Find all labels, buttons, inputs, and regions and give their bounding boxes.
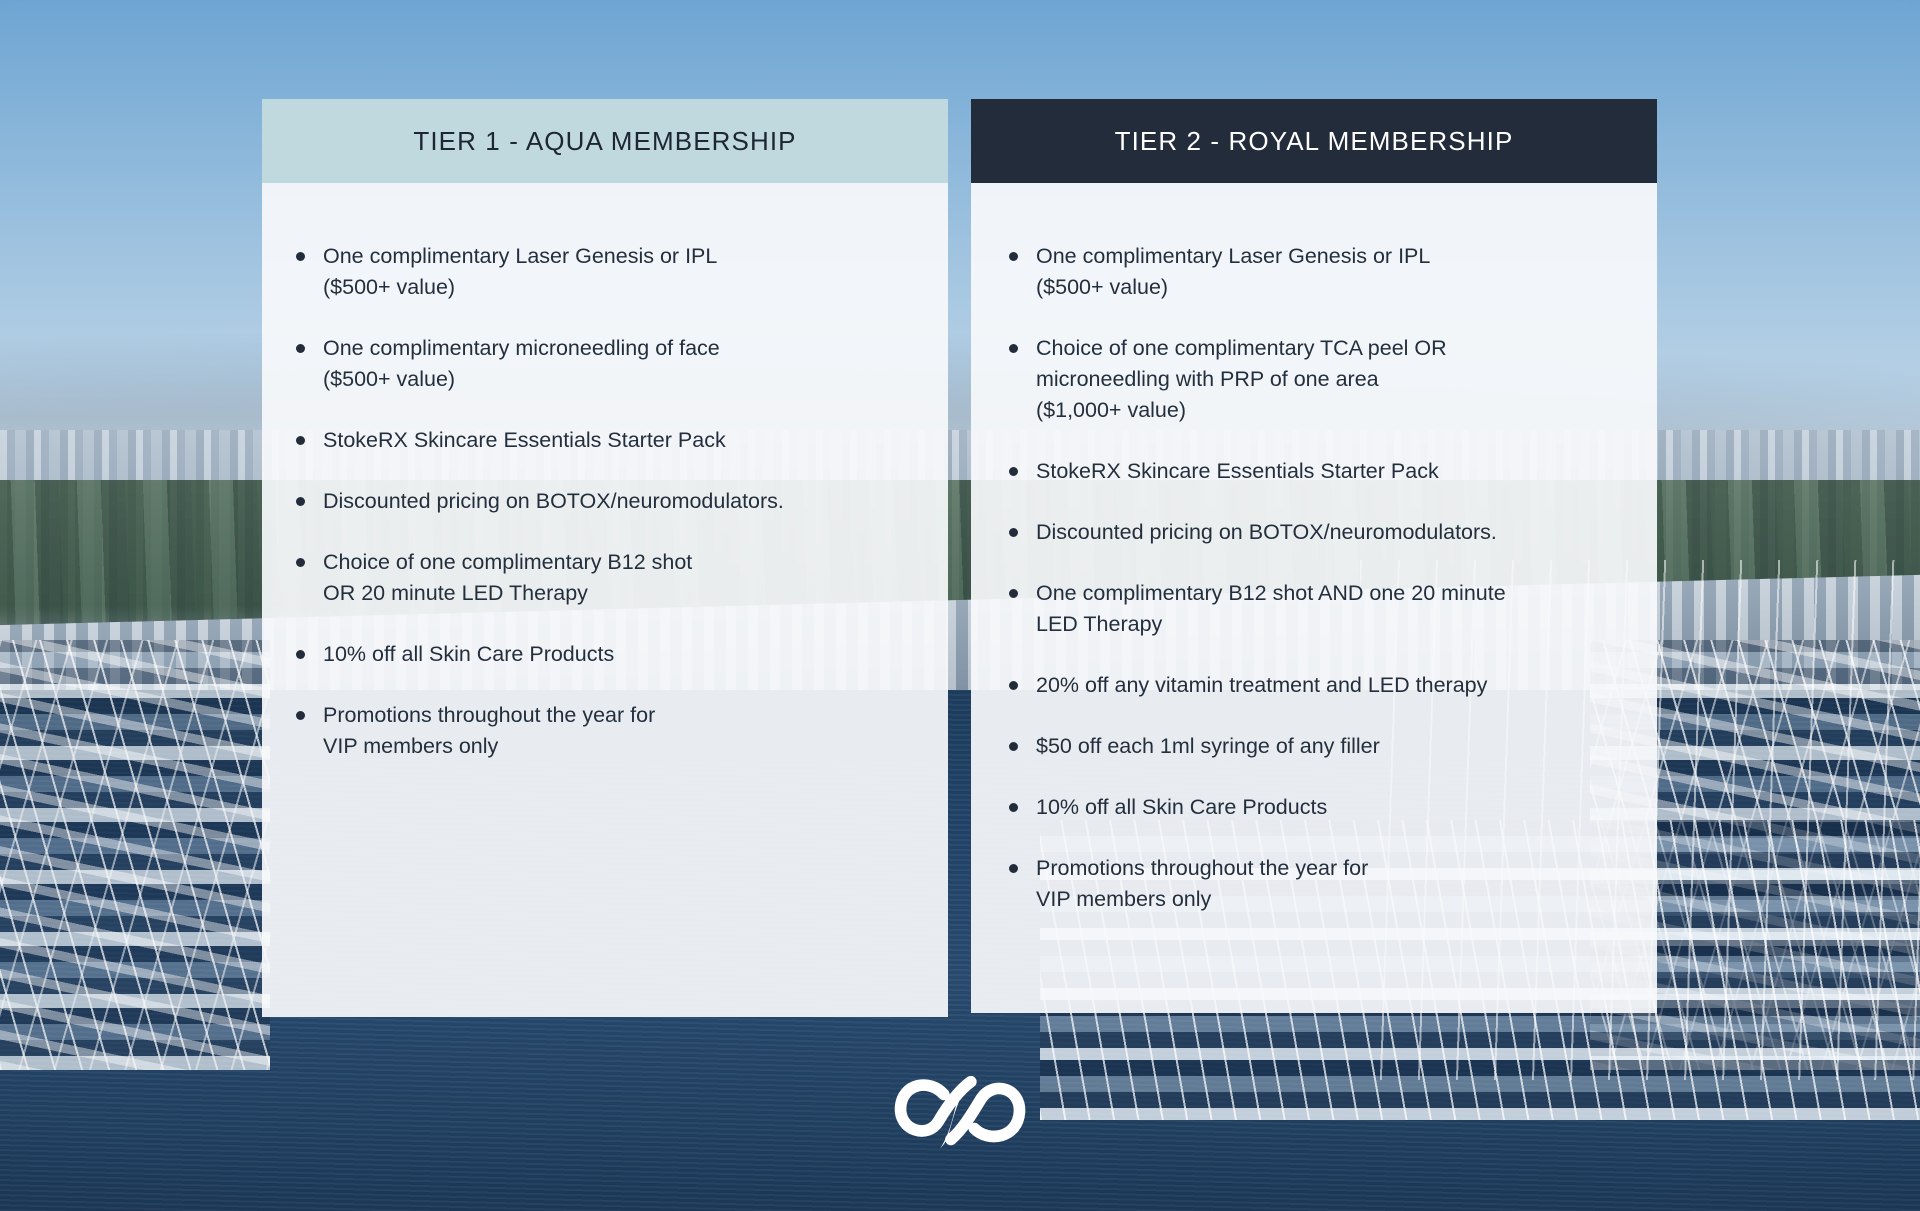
benefit-text: Choice of one complimentary B12 shot OR … — [323, 547, 692, 609]
benefit-item: 10% off all Skin Care Products — [296, 639, 914, 670]
benefit-text: 10% off all Skin Care Products — [1036, 792, 1327, 823]
tier-2-header: TIER 2 - ROYAL MEMBERSHIP — [971, 99, 1657, 183]
bullet-icon — [1009, 589, 1018, 598]
benefit-text: Promotions throughout the year for VIP m… — [323, 700, 655, 762]
benefit-text: One complimentary Laser Genesis or IPL (… — [323, 241, 717, 303]
benefit-item: One complimentary Laser Genesis or IPL (… — [1009, 241, 1629, 303]
benefit-text: StokeRX Skincare Essentials Starter Pack — [323, 425, 726, 456]
bullet-icon — [1009, 467, 1018, 476]
bullet-icon — [296, 344, 305, 353]
benefit-item: Choice of one complimentary B12 shot OR … — [296, 547, 914, 609]
benefit-item: Choice of one complimentary TCA peel OR … — [1009, 333, 1629, 426]
benefit-item: One complimentary Laser Genesis or IPL (… — [296, 241, 914, 303]
bullet-icon — [296, 558, 305, 567]
benefit-text: Discounted pricing on BOTOX/neuromodulat… — [323, 486, 784, 517]
benefit-text: One complimentary microneedling of face … — [323, 333, 720, 395]
bullet-icon — [296, 650, 305, 659]
tier-2-title: TIER 2 - ROYAL MEMBERSHIP — [1115, 126, 1514, 157]
benefit-text: One complimentary B12 shot AND one 20 mi… — [1036, 578, 1506, 640]
bullet-icon — [1009, 803, 1018, 812]
benefit-item: 20% off any vitamin treatment and LED th… — [1009, 670, 1629, 701]
bullet-icon — [1009, 252, 1018, 261]
bullet-icon — [296, 711, 305, 720]
tier-2-card: TIER 2 - ROYAL MEMBERSHIP One compliment… — [971, 99, 1657, 1013]
benefit-item: $50 off each 1ml syringe of any filler — [1009, 731, 1629, 762]
benefit-text: 20% off any vitamin treatment and LED th… — [1036, 670, 1487, 701]
benefit-item: Discounted pricing on BOTOX/neuromodulat… — [1009, 517, 1629, 548]
benefit-text: Discounted pricing on BOTOX/neuromodulat… — [1036, 517, 1497, 548]
benefit-item: Promotions throughout the year for VIP m… — [1009, 853, 1629, 915]
benefit-item: StokeRX Skincare Essentials Starter Pack — [1009, 456, 1629, 487]
slide-canvas: TIER 1 - AQUA MEMBERSHIP One complimenta… — [0, 0, 1920, 1211]
bullet-icon — [296, 497, 305, 506]
tier-1-header: TIER 1 - AQUA MEMBERSHIP — [262, 99, 948, 183]
benefit-text: StokeRX Skincare Essentials Starter Pack — [1036, 456, 1439, 487]
tier-2-benefit-list: One complimentary Laser Genesis or IPL (… — [971, 183, 1657, 915]
benefit-item: Promotions throughout the year for VIP m… — [296, 700, 914, 762]
benefit-item: StokeRX Skincare Essentials Starter Pack — [296, 425, 914, 456]
bullet-icon — [1009, 681, 1018, 690]
bullet-icon — [1009, 742, 1018, 751]
bullet-icon — [1009, 528, 1018, 537]
benefit-text: Promotions throughout the year for VIP m… — [1036, 853, 1368, 915]
benefit-text: 10% off all Skin Care Products — [323, 639, 614, 670]
benefit-item: 10% off all Skin Care Products — [1009, 792, 1629, 823]
benefit-text: Choice of one complimentary TCA peel OR … — [1036, 333, 1447, 426]
infinity-monogram-logo — [888, 1062, 1032, 1152]
benefit-item: One complimentary B12 shot AND one 20 mi… — [1009, 578, 1629, 640]
tier-1-card: TIER 1 - AQUA MEMBERSHIP One complimenta… — [262, 99, 948, 1017]
bullet-icon — [1009, 344, 1018, 353]
membership-tier-cards: TIER 1 - AQUA MEMBERSHIP One complimenta… — [0, 0, 1920, 1211]
benefit-text: One complimentary Laser Genesis or IPL (… — [1036, 241, 1430, 303]
tier-1-benefit-list: One complimentary Laser Genesis or IPL (… — [262, 183, 948, 762]
tier-1-title: TIER 1 - AQUA MEMBERSHIP — [413, 126, 796, 157]
benefit-item: Discounted pricing on BOTOX/neuromodulat… — [296, 486, 914, 517]
bullet-icon — [1009, 864, 1018, 873]
bullet-icon — [296, 436, 305, 445]
bullet-icon — [296, 252, 305, 261]
benefit-item: One complimentary microneedling of face … — [296, 333, 914, 395]
benefit-text: $50 off each 1ml syringe of any filler — [1036, 731, 1380, 762]
